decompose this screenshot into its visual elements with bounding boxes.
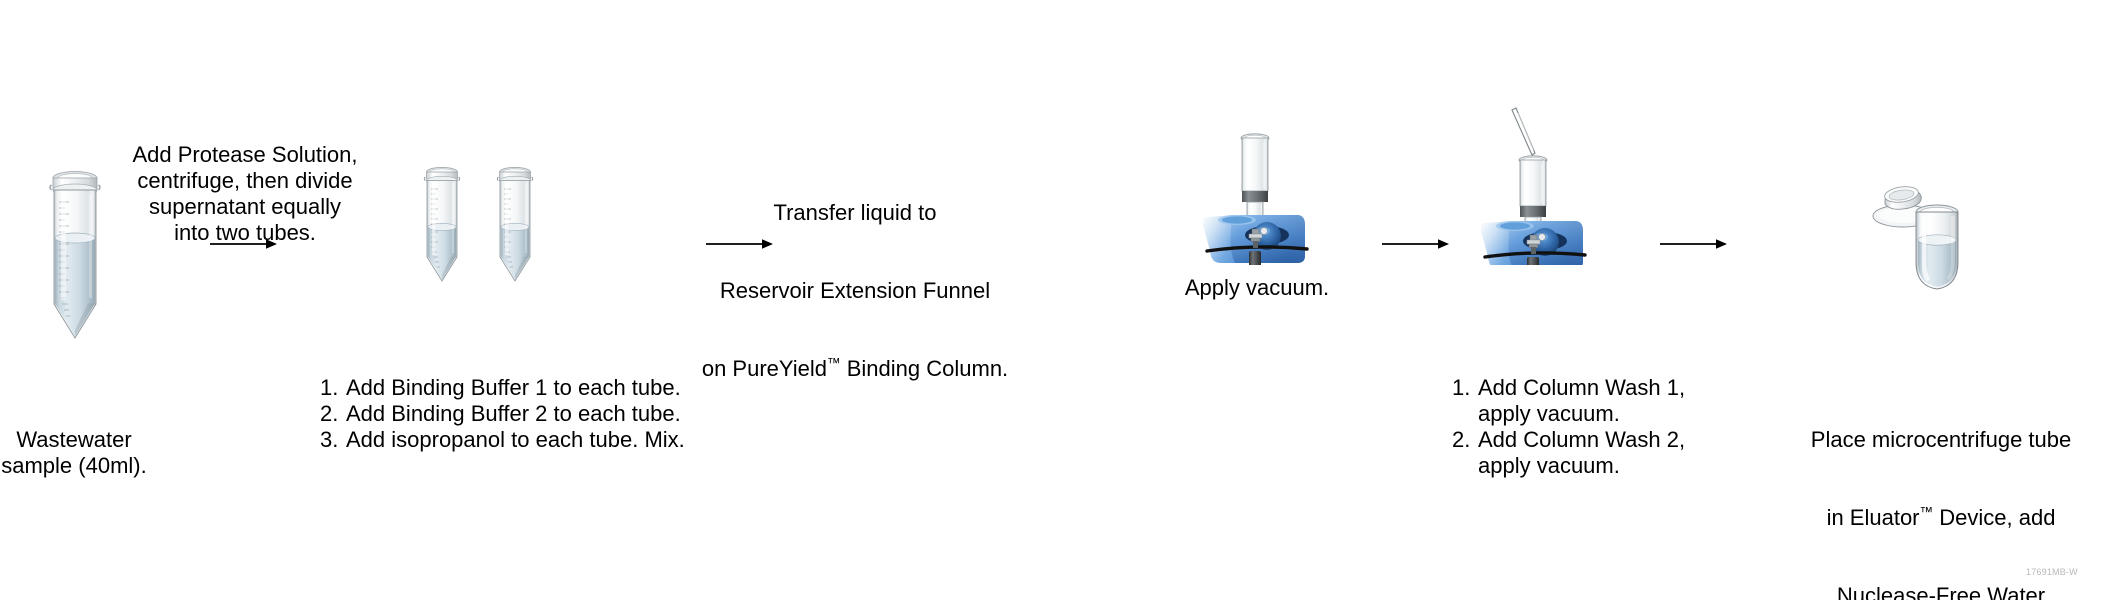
- funnel-adapter-band: [1520, 206, 1546, 217]
- microcentrifuge-tube: [1916, 205, 1958, 289]
- figure-microcentrifuge-tube-open-lid: [1855, 158, 1975, 293]
- figure-vacuum-manifold-column: [1185, 130, 1325, 265]
- step1-caption-line1: Wastewater sample (40ml).: [0, 427, 148, 479]
- step5-caption-line3: Nuclease-Free Water: [1776, 583, 2106, 600]
- funnel-adapter-band: [1242, 191, 1268, 202]
- arrow-4: [1660, 237, 1728, 256]
- list-item-number: 1.: [320, 375, 346, 401]
- list-item: 1. Add Column Wash 1, apply vacuum.: [1452, 375, 1752, 427]
- step3-caption-above: Transfer liquid to Reservoir Extension F…: [595, 148, 1115, 434]
- step5-caption-line2: in Eluator™ Device, add: [1776, 505, 2106, 531]
- list-item: 2. Add Column Wash 2, apply vacuum.: [1452, 427, 1752, 479]
- figure-tube-left: [416, 165, 468, 295]
- step3-caption-line2: Reservoir Extension Funnel: [595, 278, 1115, 304]
- figure-tube-right: [489, 165, 541, 295]
- reservoir-extension-funnel: [1519, 156, 1547, 206]
- pipette-tip-icon: [1512, 108, 1535, 155]
- step4-list: 1. Add Column Wash 1, apply vacuum. 2. A…: [1452, 375, 1752, 479]
- step3-caption-line3: on PureYield™ Binding Column.: [595, 356, 1115, 382]
- step1-caption: Wastewater sample (40ml).: [0, 375, 148, 531]
- list-item-number: 3.: [320, 427, 346, 453]
- list-item-text: Add Column Wash 1, apply vacuum.: [1478, 375, 1752, 427]
- manifold-stem: [1249, 251, 1261, 265]
- figure-conical-tube-40ml: [38, 168, 112, 360]
- step3-caption-line1: Transfer liquid to: [595, 200, 1115, 226]
- footer-code: 17691MB-W: [2026, 567, 2078, 577]
- manifold-stem: [1527, 257, 1539, 265]
- reservoir-extension-funnel: [1241, 134, 1269, 191]
- workflow-diagram: Wastewater sample (40ml). Add Protease S…: [0, 0, 2106, 600]
- step3-caption-below: Apply vacuum.: [1147, 275, 1367, 301]
- list-item-number: 2.: [320, 401, 346, 427]
- step5-caption-line1: Place microcentrifuge tube: [1776, 427, 2106, 453]
- step2-caption-above: Add Protease Solution, centrifuge, then …: [115, 142, 375, 246]
- list-item-number: 1.: [1452, 375, 1478, 427]
- list-item-text: Add Column Wash 2, apply vacuum.: [1478, 427, 1752, 479]
- list-item-number: 2.: [1452, 427, 1478, 479]
- trademark-symbol: ™: [1920, 505, 1934, 520]
- trademark-symbol: ™: [827, 356, 841, 371]
- figure-vacuum-manifold-column-pipette: [1448, 105, 1608, 265]
- arrow-3: [1382, 237, 1450, 256]
